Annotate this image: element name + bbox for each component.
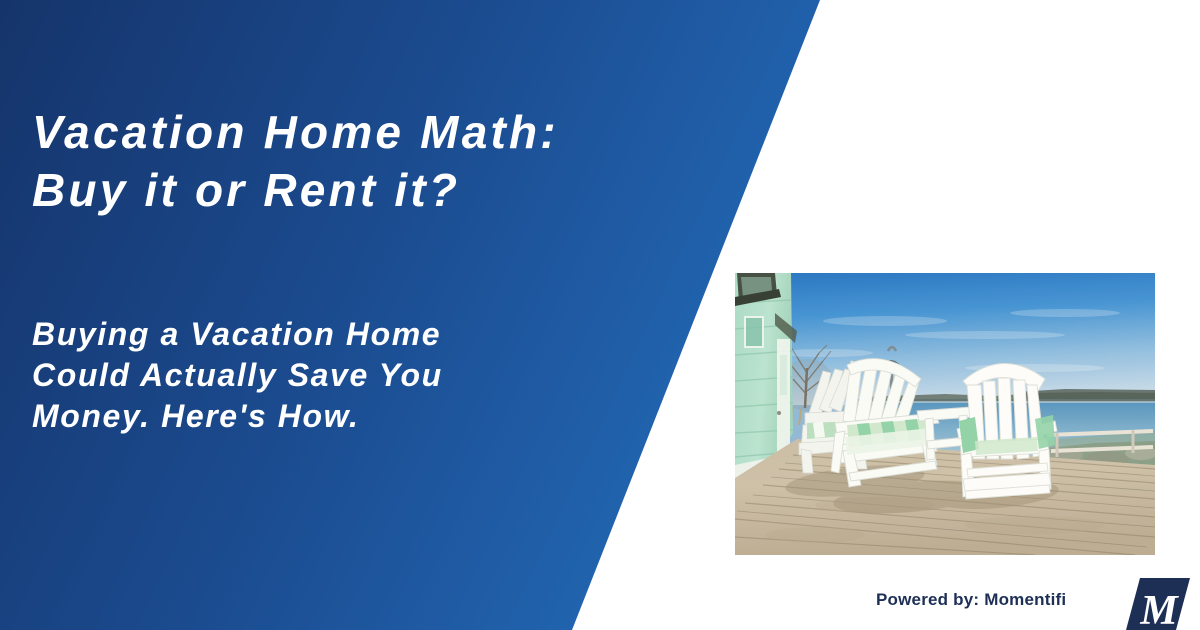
- footer-branding: Powered by: Momentifi M: [860, 586, 1200, 630]
- social-card: Vacation Home Math: Buy it or Rent it? B…: [0, 0, 1200, 630]
- text-block: Vacation Home Math: Buy it or Rent it? B…: [32, 0, 732, 630]
- momentifi-logo: M: [1126, 578, 1190, 630]
- logo-letter-m: M: [1139, 588, 1179, 630]
- vacation-deck-photo: [735, 273, 1155, 555]
- powered-by-label: Powered by: Momentifi: [876, 590, 1066, 610]
- page-subtitle: Buying a Vacation Home Could Actually Sa…: [32, 314, 672, 437]
- page-title: Vacation Home Math: Buy it or Rent it?: [32, 103, 732, 219]
